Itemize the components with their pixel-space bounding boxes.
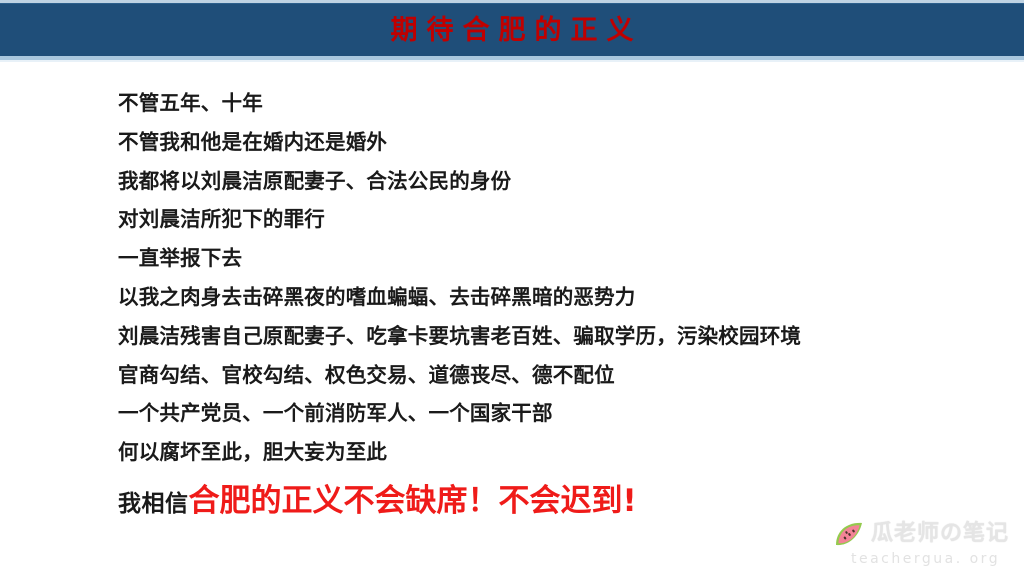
body-line: 以我之肉身去击碎黑夜的嗜血蝙蝠、去击碎黑暗的恶势力	[118, 278, 978, 317]
body-line: 不管五年、十年	[118, 84, 978, 123]
body-text-block: 不管五年、十年 不管我和他是在婚内还是婚外 我都将以刘晨洁原配妻子、合法公民的身…	[118, 84, 978, 472]
page-title: 期待合肥的正义	[382, 17, 643, 44]
watermark-brand-row: 瓜老师の笔记	[833, 518, 1013, 550]
banner-bar: 期待合肥的正义	[0, 3, 1024, 56]
body-line: 我都将以刘晨洁原配妻子、合法公民的身份	[118, 162, 978, 201]
body-line: 不管我和他是在婚内还是婚外	[118, 123, 978, 162]
body-line: 对刘晨洁所犯下的罪行	[118, 200, 978, 239]
slogan-line: 我相信 合肥的正义不会缺席！不会迟到!	[118, 484, 637, 518]
watermark: 瓜老师の笔记 teachergua. org	[833, 518, 1013, 572]
slogan-lead-text: 我相信	[118, 484, 189, 518]
watermark-brand-text: 瓜老师の笔记	[871, 523, 1009, 545]
watermelon-slice-icon	[833, 520, 867, 548]
banner-bottom-edge-highlight	[0, 60, 1024, 62]
body-line: 一直举报下去	[118, 239, 978, 278]
watermark-url-text: teachergua. org	[851, 551, 1013, 567]
header-banner: 期待合肥的正义	[0, 0, 1024, 62]
body-line: 一个共产党员、一个前消防军人、一个国家干部	[118, 394, 978, 433]
body-line: 官商勾结、官校勾结、权色交易、道德丧尽、德不配位	[118, 356, 978, 395]
slogan-emphasis-text: 合肥的正义不会缺席！不会迟到!	[189, 486, 637, 517]
body-line: 何以腐坏至此，胆大妄为至此	[118, 433, 978, 472]
body-line: 刘晨洁残害自己原配妻子、吃拿卡要坑害老百姓、骗取学历，污染校园环境	[118, 317, 978, 356]
